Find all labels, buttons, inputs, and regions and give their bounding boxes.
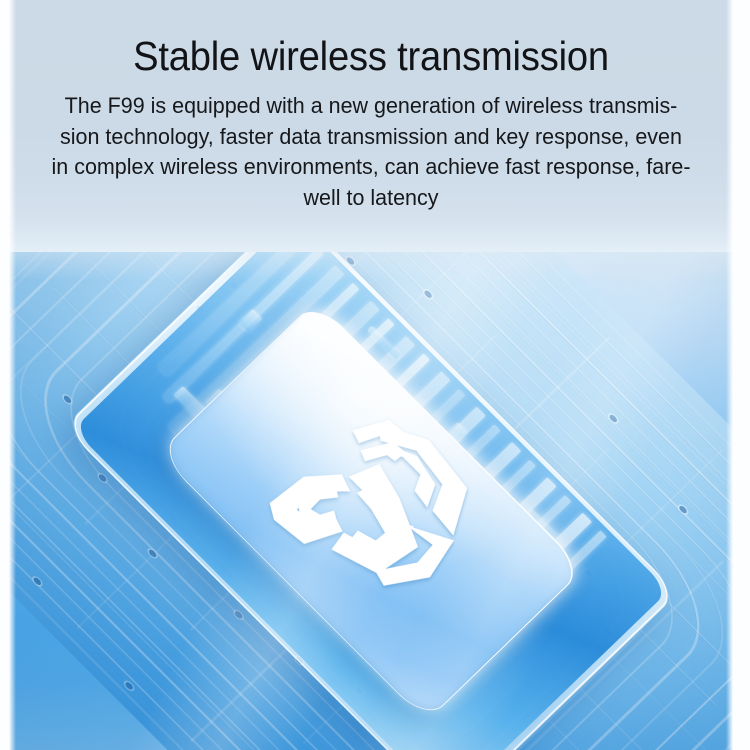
page-title: Stable wireless transmission <box>34 30 707 82</box>
product-scene <box>9 210 733 750</box>
description-line-1: The F99 is equipped with a new generatio… <box>35 91 707 122</box>
aula-brand-logo-icon <box>258 414 488 606</box>
header-text-block: Stable wireless transmission The F99 is … <box>9 0 733 213</box>
banner-canvas: Stable wireless transmission The F99 is … <box>9 0 733 750</box>
right-page-margin <box>733 0 750 750</box>
description-line-2: sion technology, faster data transmissio… <box>35 122 707 153</box>
description-line-4: well to latency <box>35 183 707 214</box>
banner-description: The F99 is equipped with a new generatio… <box>25 91 716 213</box>
left-page-margin <box>0 0 9 750</box>
product-banner: Stable wireless transmission The F99 is … <box>0 0 750 750</box>
description-line-3: in complex wireless environments, can ac… <box>35 152 707 183</box>
banner-header: Stable wireless transmission The F99 is … <box>9 0 733 252</box>
